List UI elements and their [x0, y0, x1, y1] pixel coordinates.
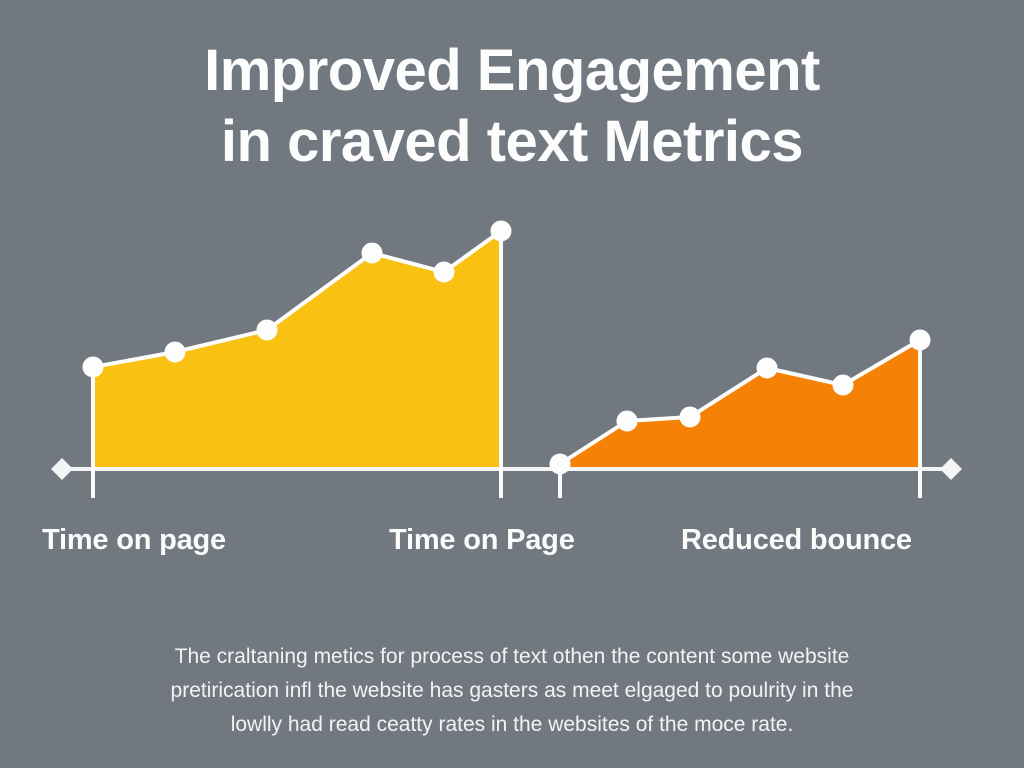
page-title: Improved Engagement in craved text Metri…	[0, 36, 1024, 178]
series-fill-group	[93, 231, 920, 469]
data-point-s1-1	[617, 411, 637, 431]
data-point-s0-4	[434, 262, 454, 282]
axis-label-0: Time on page	[42, 521, 226, 559]
data-point-s0-0	[83, 357, 103, 377]
series-1-area	[560, 340, 920, 469]
chart-svg	[0, 190, 1024, 510]
slide-canvas: Improved Engagement in craved text Metri…	[0, 0, 1024, 768]
axis-label-2: Reduced bounce	[681, 521, 912, 559]
data-point-s0-2	[257, 320, 277, 340]
title-line-1: Improved Engagement	[0, 36, 1024, 107]
data-point-s1-2	[680, 407, 700, 427]
axis-label-1: Time on Page	[389, 521, 575, 559]
axis-cap-right-icon	[940, 458, 962, 480]
caption-line-1: The craltaning metics for process of tex…	[72, 640, 952, 674]
title-line-2: in craved text Metrics	[0, 107, 1024, 178]
axis-cap-left-icon	[51, 458, 73, 480]
data-point-s1-0	[550, 454, 570, 474]
data-point-s1-5	[910, 330, 930, 350]
data-point-s0-1	[165, 342, 185, 362]
caption-line-2: pretirication infl the website has gaste…	[72, 674, 952, 708]
data-point-s0-5	[491, 221, 511, 241]
caption-block: The craltaning metics for process of tex…	[72, 640, 952, 742]
data-point-s1-4	[833, 375, 853, 395]
engagement-area-chart	[0, 190, 1024, 510]
data-point-s0-3	[362, 243, 382, 263]
axis-label-row: Time on pageTime on PageReduced bounce	[0, 521, 1024, 565]
data-point-s1-3	[757, 358, 777, 378]
caption-line-3: lowlly had read ceatty rates in the webs…	[72, 708, 952, 742]
